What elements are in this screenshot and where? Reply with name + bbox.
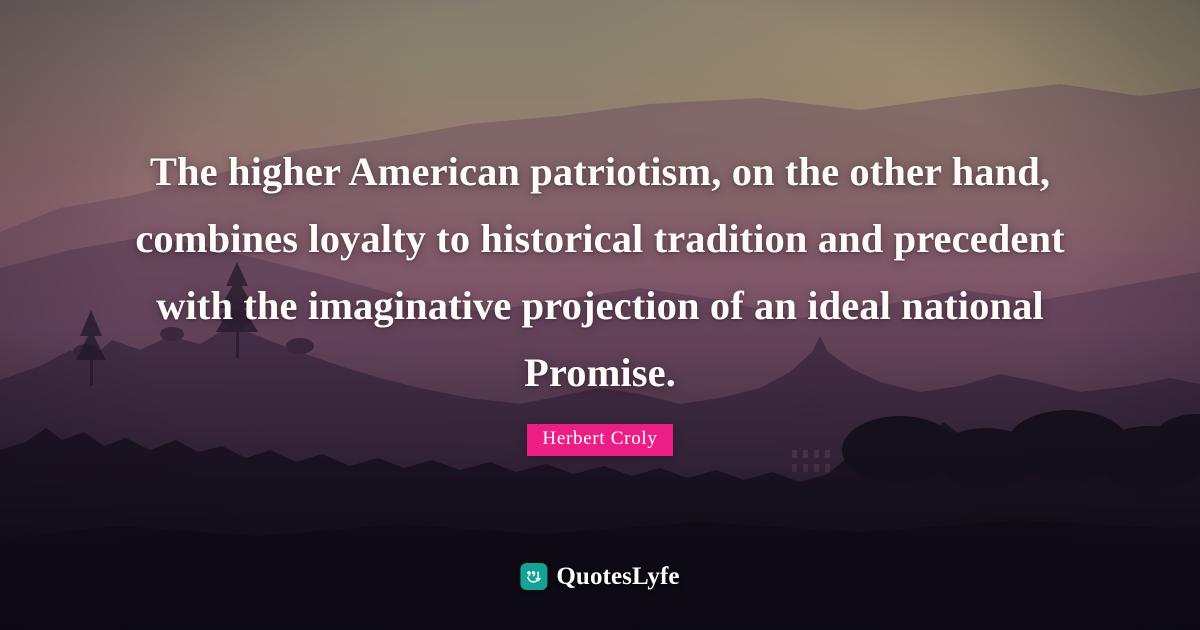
brand-logo[interactable]: QuotesLyfe bbox=[520, 563, 679, 590]
quote-smiley-icon bbox=[520, 563, 547, 590]
quote-author-badge: Herbert Croly bbox=[527, 424, 672, 456]
card-content: The higher American patriotism, on the o… bbox=[0, 0, 1200, 630]
quote-card: The higher American patriotism, on the o… bbox=[0, 0, 1200, 630]
brand-name-label: QuotesLyfe bbox=[556, 563, 679, 590]
quote-text: The higher American patriotism, on the o… bbox=[95, 138, 1105, 406]
